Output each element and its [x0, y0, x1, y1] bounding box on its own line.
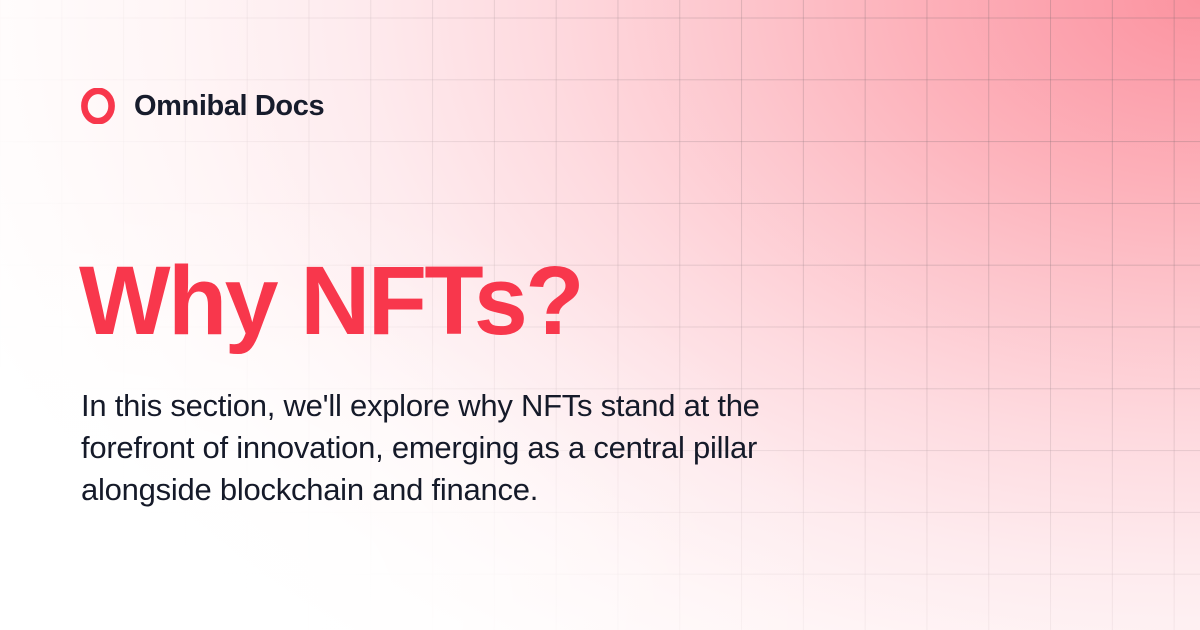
page-description: In this section, we'll explore why NFTs … — [81, 385, 871, 511]
omnibal-o-letter-icon — [81, 88, 115, 124]
page-title: Why NFTs? — [79, 252, 582, 349]
brand-name-label: Omnibal Docs — [134, 92, 324, 121]
social-card-canvas: Omnibal Docs Why NFTs? In this section, … — [0, 0, 1200, 630]
brand-lockup[interactable]: Omnibal Docs — [81, 84, 324, 128]
card-content: Omnibal Docs Why NFTs? In this section, … — [0, 0, 1200, 630]
